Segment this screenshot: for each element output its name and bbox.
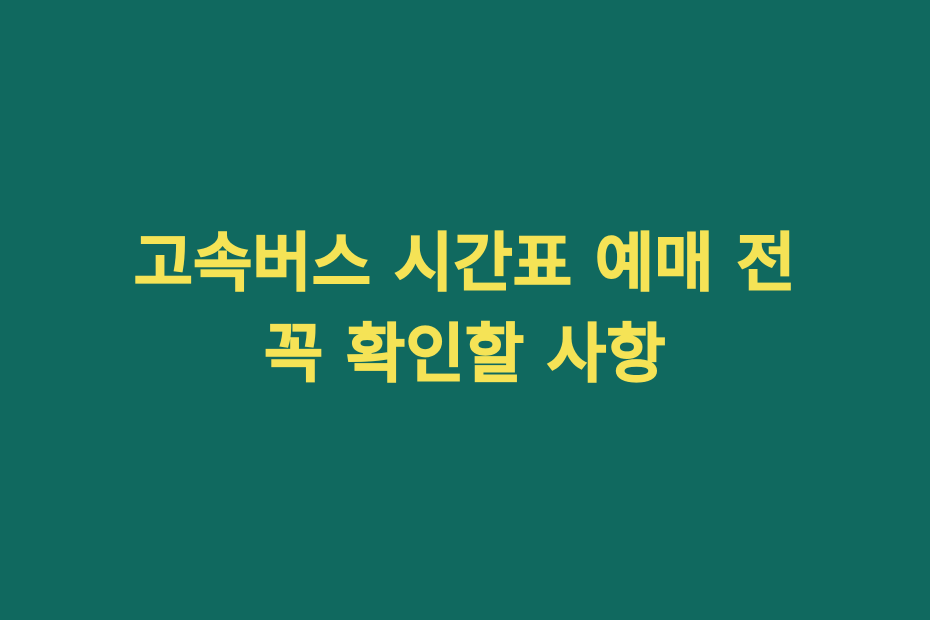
banner-canvas: 고속버스 시간표 예매 전 꼭 확인할 사항 [0,0,930,620]
headline-block: 고속버스 시간표 예매 전 꼭 확인할 사항 [0,0,930,620]
headline-line-2: 꼭 확인할 사항 [0,310,930,401]
headline-line-1: 고속버스 시간표 예매 전 [0,219,930,310]
